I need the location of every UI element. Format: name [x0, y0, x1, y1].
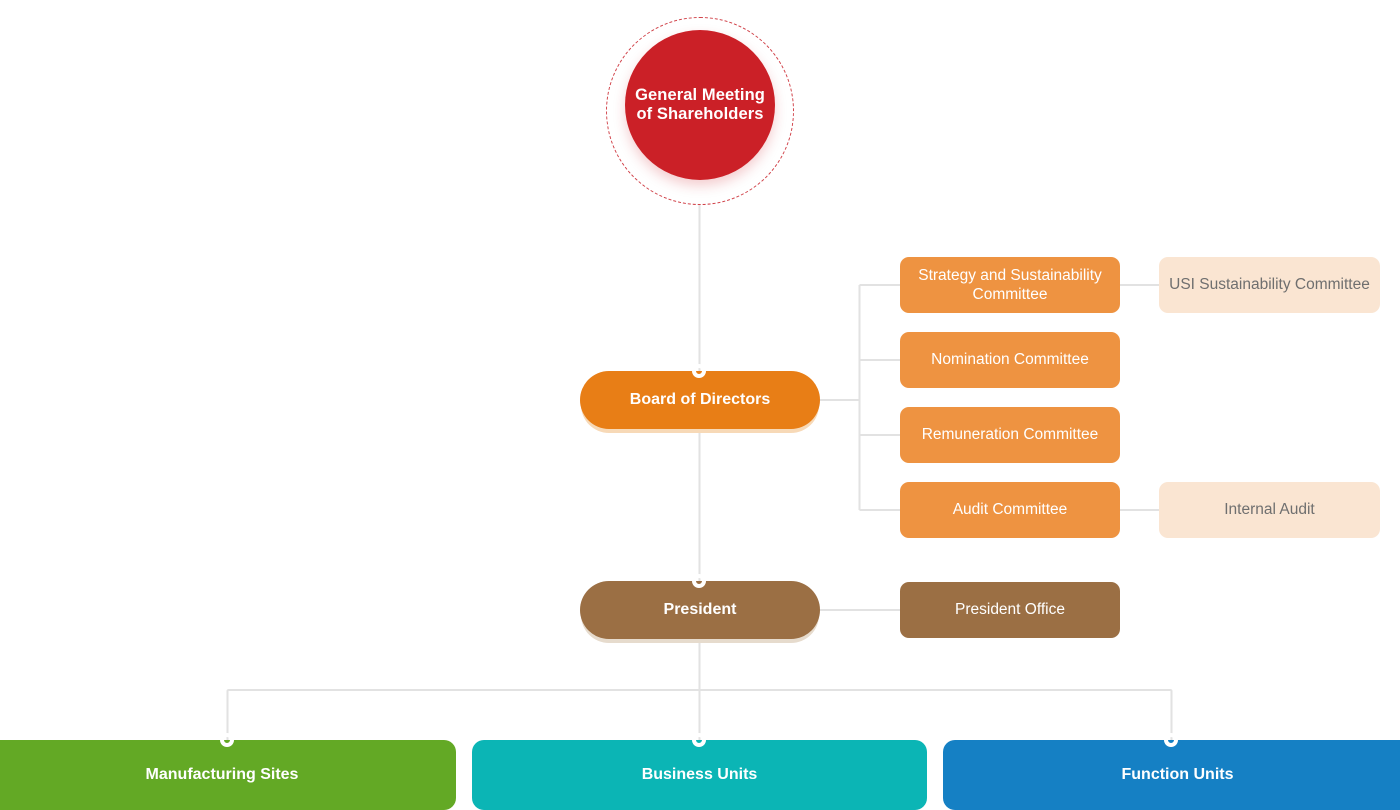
node-president[interactable]: President [580, 581, 820, 639]
node-board-of-directors[interactable]: Board of Directors [580, 371, 820, 429]
president-label: President [664, 600, 737, 620]
node-internal-audit[interactable]: Internal Audit [1159, 482, 1380, 538]
nomination-committee-label: Nomination Committee [931, 350, 1089, 369]
connector-dot-board [692, 364, 706, 378]
connector-dot-business-units [692, 733, 706, 747]
audit-committee-label: Audit Committee [953, 500, 1068, 519]
business-units-label: Business Units [642, 765, 758, 785]
node-strategy-and-sustainability-committee[interactable]: Strategy and Sustainability Committee [900, 257, 1120, 313]
president-office-label: President Office [955, 600, 1065, 619]
node-audit-committee[interactable]: Audit Committee [900, 482, 1120, 538]
node-nomination-committee[interactable]: Nomination Committee [900, 332, 1120, 388]
node-function-units[interactable]: Function Units [943, 740, 1400, 810]
node-business-units[interactable]: Business Units [472, 740, 927, 810]
internal-audit-label: Internal Audit [1224, 500, 1314, 519]
remuneration-committee-label: Remuneration Committee [922, 425, 1099, 444]
connector-dot-manufacturing-sites [220, 733, 234, 747]
root-circle-label: General Meeting of Shareholders [625, 30, 775, 180]
connector-dot-function-units [1164, 733, 1178, 747]
connector-dot-president [692, 574, 706, 588]
strategy-and-sustainability-committee-label: Strategy and Sustainability Committee [910, 266, 1110, 305]
node-usi-sustainability-committee[interactable]: USI Sustainability Committee [1159, 257, 1380, 313]
node-general-meeting-of-shareholders[interactable]: General Meeting of Shareholders [606, 17, 794, 205]
node-president-office[interactable]: President Office [900, 582, 1120, 638]
function-units-label: Function Units [1122, 765, 1234, 785]
node-remuneration-committee[interactable]: Remuneration Committee [900, 407, 1120, 463]
board-of-directors-label: Board of Directors [630, 390, 770, 410]
usi-sustainability-committee-label: USI Sustainability Committee [1169, 275, 1370, 294]
org-chart: General Meeting of Shareholders Board of… [0, 0, 1400, 810]
node-manufacturing-sites[interactable]: Manufacturing Sites [0, 740, 456, 810]
manufacturing-sites-label: Manufacturing Sites [146, 765, 299, 785]
